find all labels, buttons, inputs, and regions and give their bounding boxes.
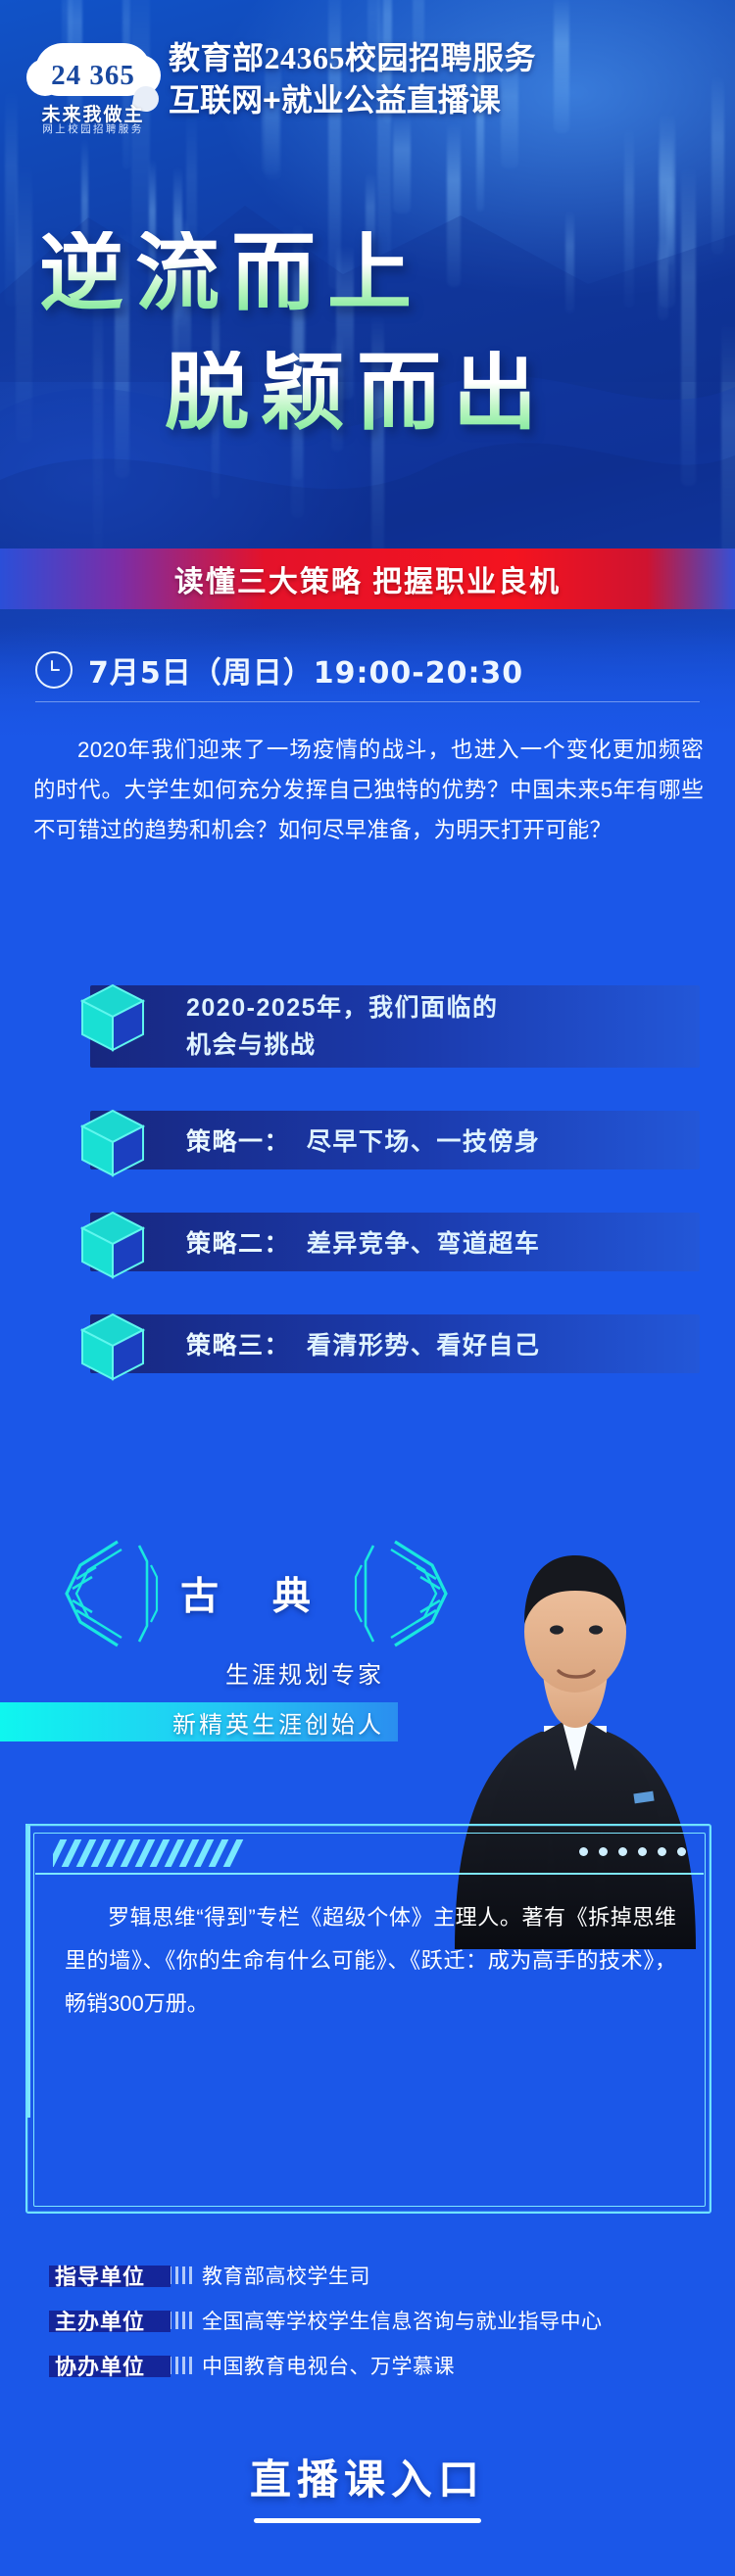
divider [35,701,700,702]
organization-label: 协办单位 [53,2346,147,2385]
clock-icon [35,651,73,689]
logo-number: 24 365 [29,60,157,92]
tagline-banner: 读懂三大策略 把握职业良机 [0,549,735,609]
strategy-text: 策略二： 差异竞争、弯道超车 [186,1207,540,1277]
bio-header [35,1835,704,1872]
strategy-row: 策略三： 看清形势、看好自己 [0,1309,735,1379]
main-title-line1: 逆流而上 [39,231,423,315]
cube-icon [74,979,151,1056]
strategy-text: 策略三： 看清形势、看好自己 [186,1309,540,1379]
logo-subtitle: 网上校园招聘服务 [29,121,157,136]
organization-row: 协办单位中国教育电视台、万学慕课 [53,2343,700,2388]
bio-text: 罗辑思维“得到”专栏《超级个体》主理人。著有《拆掉思维里的墙》、《你的生命有什么… [65,1896,676,2026]
strategy-label: 策略一： [186,1122,290,1158]
left-bracket-icon [57,1536,163,1651]
speaker-name: 古 典 [180,1566,332,1621]
dots-decoration [579,1847,686,1856]
cube-icon [74,1309,151,1385]
entry-title[interactable]: 直播课入口 [244,2447,491,2506]
organization-value: 教育部高校学生司 [202,2261,370,2290]
organization-value: 中国教育电视台、万学慕课 [202,2351,455,2380]
organization-row: 指导单位教育部高校学生司 [53,2253,700,2298]
strategy-text: 2020-2025年，我们面临的机会与挑战 [186,979,499,1073]
speaker-name-row: 古 典 [57,1536,456,1651]
intro-paragraph: 2020年我们迎来了一场疫情的战斗，也进入一个变化更加频密的时代。大学生如何充分… [33,730,704,850]
strategy-label: 策略二： [186,1224,290,1260]
right-bracket-icon [350,1536,456,1651]
speaker-org-bar: 新精英生涯创始人 [0,1702,398,1741]
schedule-row: 7月5日（周日）19:00-20:30 [35,648,523,692]
strategy-row: 策略一： 尽早下场、一技傍身 [0,1105,735,1175]
speaker-role: 生涯规划专家 [0,1655,384,1690]
strategy-row: 2020-2025年，我们面临的机会与挑战 [0,979,735,1073]
bio-header-rule [35,1873,704,1875]
entry-section[interactable]: 直播课入口 [0,2447,735,2523]
stripes-decoration [53,1839,249,1867]
strategy-list: 2020-2025年，我们面临的机会与挑战策略一： 尽早下场、一技傍身策略二： … [0,979,735,1410]
speaker-bio-box: 罗辑思维“得到”专栏《超级个体》主理人。著有《拆掉思维里的墙》、《你的生命有什么… [25,1824,711,2214]
organization-value: 全国高等学校学生信息咨询与就业指导中心 [202,2306,603,2335]
cube-icon [74,1207,151,1283]
organization-row: 主办单位全国高等学校学生信息咨询与就业指导中心 [53,2298,700,2343]
speaker-org: 新精英生涯创始人 [172,1702,384,1741]
entry-underline [254,2518,481,2523]
strategy-row: 策略二： 差异竞争、弯道超车 [0,1207,735,1277]
strategy-label: 策略三： [186,1326,290,1361]
organization-list: 指导单位教育部高校学生司主办单位全国高等学校学生信息咨询与就业指导中心协办单位中… [53,2253,700,2388]
brand-logo: 24 365 未来我做主 网上校园招聘服务 [29,43,157,137]
schedule-text: 7月5日（周日）19:00-20:30 [88,648,523,692]
header-title-line1: 教育部24365校园招聘服务 [169,37,732,79]
organization-label: 指导单位 [53,2256,147,2295]
cube-icon [74,1105,151,1181]
tagline-text: 读懂三大策略 把握职业良机 [0,549,735,609]
main-title-line2: 脱颖而出 [165,351,549,435]
organization-label: 主办单位 [53,2301,147,2340]
header-title: 教育部24365校园招聘服务 互联网+就业公益直播课 [169,37,732,121]
header-title-line2: 互联网+就业公益直播课 [169,79,732,121]
strategy-text: 策略一： 尽早下场、一技傍身 [186,1105,540,1175]
poster-root: 24 365 未来我做主 网上校园招聘服务 教育部24365校园招聘服务 互联网… [0,0,735,2576]
